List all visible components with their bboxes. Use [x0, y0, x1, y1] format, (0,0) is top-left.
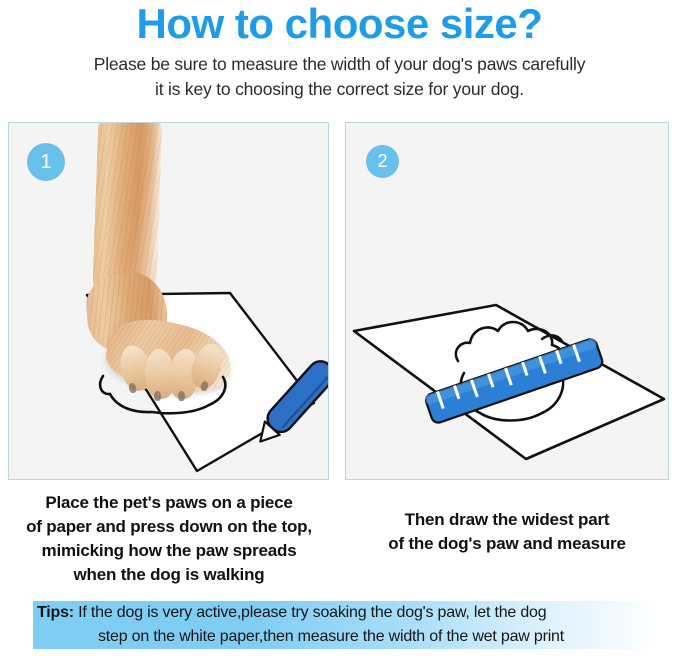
step-1-caption-line-1: Place the pet's paws on a piece	[4, 491, 334, 515]
step-2-caption: Then draw the widest part of the dog's p…	[345, 508, 669, 556]
page-title: How to choose size?	[0, 0, 679, 50]
size-guide-page: How to choose size? Please be sure to me…	[0, 0, 679, 656]
marker-pen	[251, 356, 328, 450]
step-number-badge-2: 2	[366, 145, 399, 178]
tips-line-2: step on the white paper,then measure the…	[37, 625, 663, 649]
step-2-caption-line-2: of the dog's paw and measure	[345, 532, 669, 556]
subtitle-line-2: it is key to choosing the correct size f…	[0, 77, 679, 102]
tips-line-1: Tips: If the dog is very active,please t…	[37, 601, 663, 625]
tips-banner: Tips: If the dog is very active,please t…	[33, 601, 663, 649]
step-1-caption-line-4: when the dog is walking	[4, 563, 334, 587]
step-2-illustration	[346, 123, 668, 479]
step-1-caption: Place the pet's paws on a piece of paper…	[4, 491, 334, 587]
step-2-illustration-clip	[346, 123, 668, 479]
tips-label: Tips:	[37, 604, 74, 621]
marker-body	[263, 356, 328, 437]
step-panel-1: 1	[8, 122, 329, 480]
step-1-illustration-clip	[9, 123, 328, 479]
step-panel-2: 2	[345, 122, 669, 480]
step-1-illustration	[9, 123, 328, 479]
step-1-caption-line-3: mimicking how the paw spreads	[4, 539, 334, 563]
tips-line-1-text: If the dog is very active,please try soa…	[74, 604, 547, 621]
subtitle-line-1: Please be sure to measure the width of y…	[0, 52, 679, 77]
page-subtitle: Please be sure to measure the width of y…	[0, 52, 679, 102]
paw-trace-outline	[100, 376, 225, 413]
step-1-caption-line-2: of paper and press down on the top,	[4, 515, 334, 539]
step-2-caption-line-1: Then draw the widest part	[345, 508, 669, 532]
trace-and-marker-svg	[9, 123, 328, 479]
